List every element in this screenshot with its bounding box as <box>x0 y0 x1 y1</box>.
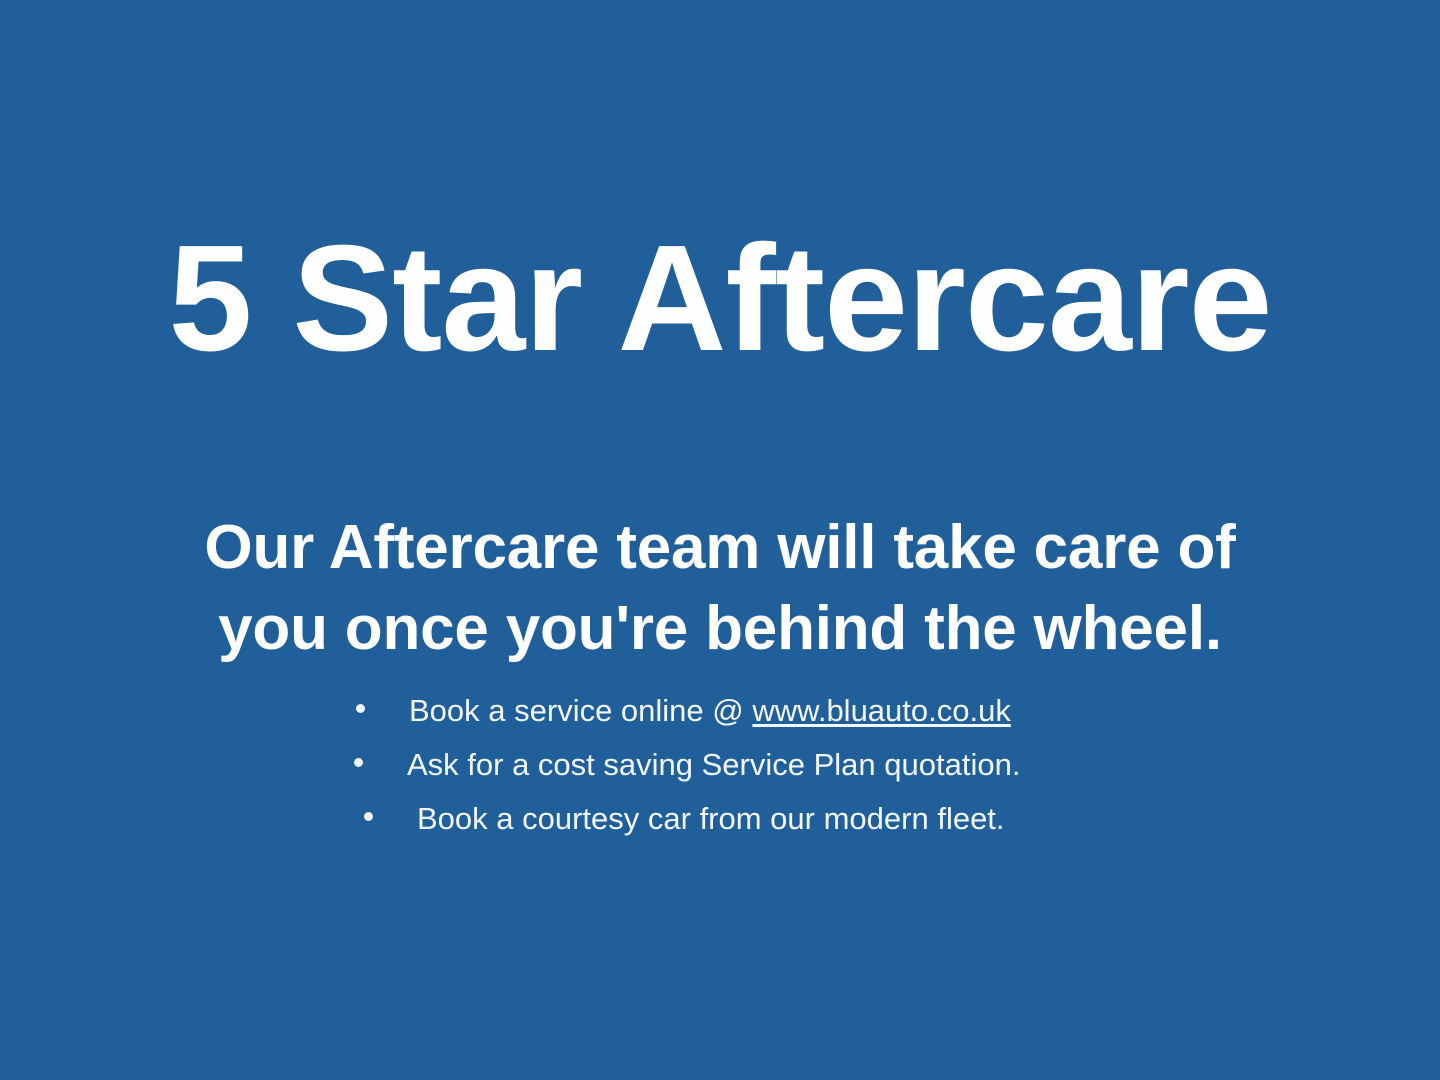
list-item-label: Book a service online @ www.bluauto.co.u… <box>409 684 1011 738</box>
list-item: Book a service online @ www.bluauto.co.u… <box>340 684 1100 738</box>
list-item-label: Book a courtesy car from our modern flee… <box>417 792 1005 846</box>
list-item: Ask for a cost saving Service Plan quota… <box>340 738 1100 792</box>
slide-canvas: 5 Star Aftercare Our Aftercare team will… <box>0 0 1440 1080</box>
bullet-dot-icon <box>356 704 365 713</box>
subheading-line-1: Our Aftercare team will take care of <box>70 508 1370 589</box>
subheading-line-2: you once you're behind the wheel. <box>70 589 1370 670</box>
list-item-label: Ask for a cost saving Service Plan quota… <box>407 738 1020 792</box>
bluauto-website-link[interactable]: www.bluauto.co.uk <box>752 693 1010 728</box>
page-title: 5 Star Aftercare <box>0 221 1440 375</box>
bullet-list: Book a service online @ www.bluauto.co.u… <box>340 684 1100 846</box>
list-item: Book a courtesy car from our modern flee… <box>340 792 1100 846</box>
subheading: Our Aftercare team will take care of you… <box>70 508 1370 669</box>
list-item-text: Book a service online @ <box>409 693 752 728</box>
bullet-dot-icon <box>364 812 373 821</box>
bullet-dot-icon <box>354 758 363 767</box>
